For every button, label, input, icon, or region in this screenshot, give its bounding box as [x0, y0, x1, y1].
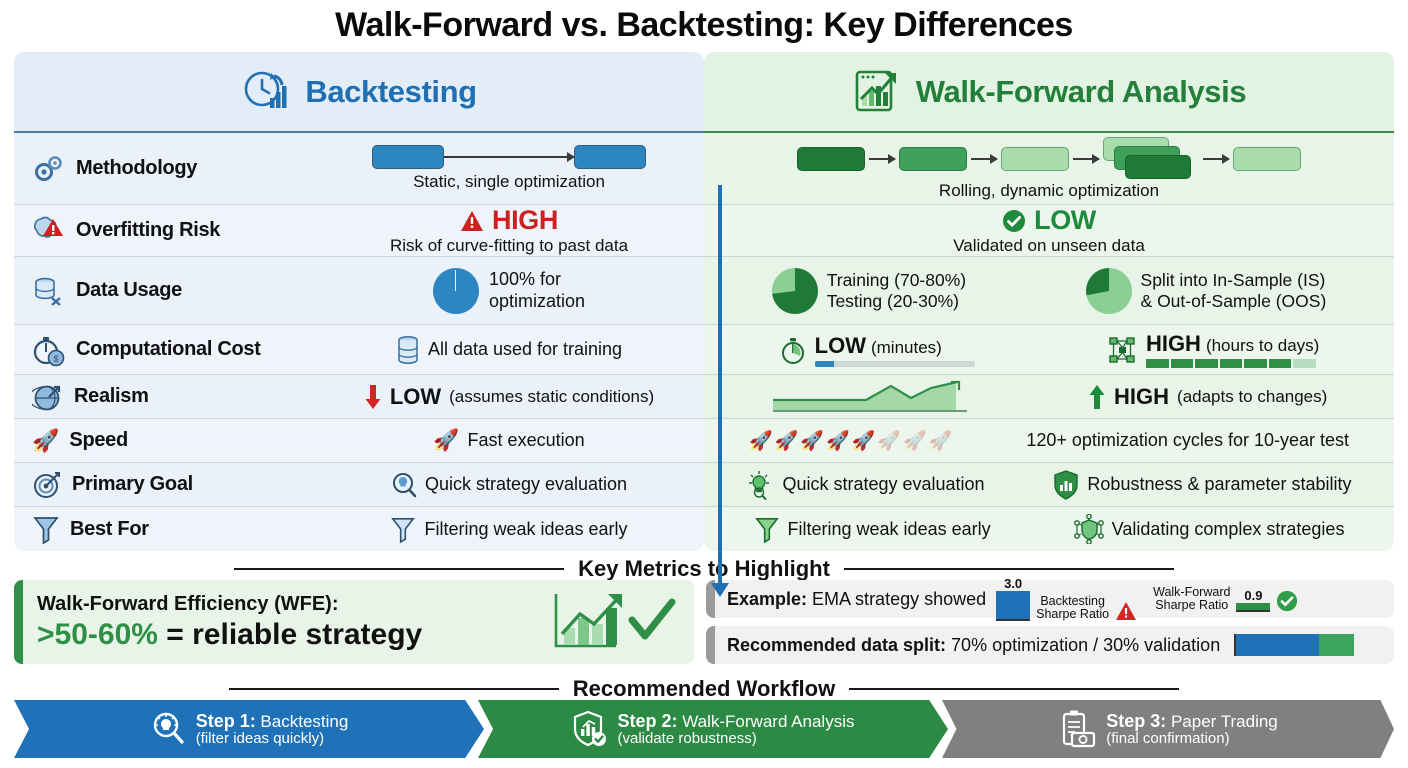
- cell-text: Fast execution: [468, 430, 585, 451]
- table-row: Data Usage 100% for optimization: [14, 257, 704, 325]
- table-row: Rolling, dynamic optimization: [704, 133, 1394, 205]
- stopwatch-icon: [779, 335, 807, 365]
- row-label-text: Overfitting Risk: [76, 219, 220, 242]
- example-rest: EMA strategy showed: [807, 589, 986, 609]
- funnel-icon: [754, 514, 780, 544]
- step-3-label: Step 3: Paper Trading (final confirmatio…: [1106, 711, 1278, 748]
- funnel-icon: [390, 514, 416, 544]
- rule-right: [849, 688, 1179, 690]
- cell-cost-right: LOW (minutes): [704, 331, 1394, 368]
- column-title-walk-forward: Walk-Forward Analysis: [916, 74, 1246, 110]
- cell-text: All data used for training: [428, 339, 622, 360]
- stage-chip: [899, 147, 967, 171]
- rows-backtesting: Methodology Static, single optimization: [14, 133, 704, 551]
- warning-triangle-icon: [460, 210, 484, 232]
- table-row: HIGH (adapts to changes): [704, 375, 1394, 419]
- cell-bestfor-right: Filtering weak ideas early: [704, 514, 1394, 544]
- rocket-rating-icon: 🚀🚀🚀🚀🚀 🚀🚀🚀: [749, 429, 952, 453]
- cell-cost-left: All data used for training: [314, 335, 704, 365]
- rocket-icon: 🚀: [433, 429, 459, 453]
- shield-chart-icon: [1053, 470, 1079, 500]
- column-backtesting: Backtesting Methodo: [14, 52, 704, 550]
- key-metrics-area: Walk-Forward Efficiency (WFE): >50-60% =…: [14, 580, 1394, 664]
- rule-left: [234, 568, 564, 570]
- page-title: Walk-Forward vs. Backtesting: Key Differ…: [0, 0, 1408, 45]
- table-row: Training (70-80%) Testing (20-30%) Split…: [704, 257, 1394, 325]
- database-icon: [396, 335, 420, 365]
- cell-text: Filtering weak ideas early: [788, 519, 991, 540]
- bar-backtesting: [996, 591, 1030, 621]
- cell-text: 120+ optimization cycles for 10-year tes…: [1026, 430, 1349, 451]
- section-title: Key Metrics to Highlight: [578, 556, 830, 582]
- cost-bar-high: [1146, 359, 1316, 368]
- flow-arrow-icon: [1203, 158, 1229, 160]
- sharpe-chart-walkforward: Walk-Forward Sharpe Ratio 0.9: [1153, 586, 1298, 612]
- verdict-note: (hours to days): [1206, 336, 1319, 356]
- growth-chart-window-icon: [852, 66, 904, 118]
- column-divider-arrow: [718, 185, 722, 585]
- training-testing-pie-icon: [772, 268, 818, 314]
- cell-overfitting-left: HIGH Risk of curve-fitting to past data: [314, 205, 704, 256]
- rows-walk-forward: Rolling, dynamic optimization LOW: [704, 133, 1394, 551]
- cell-overfitting-right: LOW Validated on unseen data: [704, 205, 1394, 256]
- globe-arrow-icon: [32, 381, 64, 413]
- bar-label: Backtesting Sharpe Ratio: [1036, 595, 1109, 621]
- row-label-data-usage: Data Usage: [14, 274, 314, 308]
- wfe-card: Walk-Forward Efficiency (WFE): >50-60% =…: [14, 580, 694, 664]
- check-circle-icon: [1276, 590, 1298, 612]
- wfe-value-line: >50-60% = reliable strategy: [37, 618, 422, 652]
- step-1-label: Step 1: Backtesting (filter ideas quickl…: [196, 711, 349, 748]
- table-row: Primary Goal Quick strategy ev: [14, 463, 704, 507]
- table-row: 🚀 Speed 🚀 Fast execution: [14, 419, 704, 463]
- target-icon: [32, 470, 62, 500]
- wfe-title: Walk-Forward Efficiency (WFE):: [37, 593, 422, 616]
- wfe-rest: = reliable strategy: [158, 618, 422, 651]
- cell-speed-left: 🚀 Fast execution: [314, 429, 704, 453]
- clock-bar-chart-icon: [241, 66, 293, 118]
- flow-arrow-icon: [444, 156, 574, 158]
- flow-arrow-icon: [971, 158, 997, 160]
- cost-bar-low: [815, 361, 975, 367]
- stage-chip: [372, 145, 444, 169]
- section-header-workflow: Recommended Workflow: [0, 676, 1408, 702]
- clipboard-money-icon: [1058, 709, 1096, 749]
- verdict-text: HIGH: [1114, 384, 1169, 410]
- full-blue-pie-icon: [433, 268, 479, 314]
- workflow-step-3[interactable]: Step 3: Paper Trading (final confirmatio…: [942, 700, 1394, 758]
- up-arrow-icon: [1088, 384, 1106, 410]
- cell-caption: Risk of curve-fitting to past data: [390, 236, 628, 256]
- lightbulb-magnifier-icon: [746, 470, 774, 500]
- bar-value: 0.9: [1244, 589, 1262, 602]
- table-row: 🚀🚀🚀🚀🚀 🚀🚀🚀 120+ optimization cycles for 1…: [704, 419, 1394, 463]
- cell-goal-left: Quick strategy evaluation: [314, 471, 704, 499]
- cell-caption: Static, single optimization: [413, 172, 605, 192]
- growth-check-icon: [550, 590, 680, 654]
- workflow-step-2[interactable]: Step 2: Walk-Forward Analysis (validate …: [478, 700, 948, 758]
- verdict-text: HIGH: [1146, 331, 1201, 357]
- right-metric-cards: Example: EMA strategy showed 3.0 Backtes…: [706, 580, 1394, 664]
- cell-text-line1: Split into In-Sample (IS): [1141, 270, 1327, 291]
- shield-check-chart-icon: [572, 710, 608, 748]
- rule-right: [844, 568, 1174, 570]
- cell-text: Robustness & parameter stability: [1087, 474, 1351, 495]
- row-label-overfitting-risk: Overfitting Risk: [14, 215, 314, 247]
- row-label-methodology: Methodology: [14, 152, 314, 186]
- database-shuffle-icon: [32, 274, 66, 308]
- magnifier-bulb-icon: [150, 710, 186, 748]
- split-text: Recommended data split: 70% optimization…: [727, 635, 1220, 656]
- section-header-key-metrics: Key Metrics to Highlight: [0, 556, 1408, 582]
- workflow-step-1[interactable]: Step 1: Backtesting (filter ideas quickl…: [14, 700, 484, 758]
- cell-text-line1: Training (70-80%): [827, 270, 966, 291]
- cell-caption: Rolling, dynamic optimization: [939, 181, 1159, 201]
- column-header-walk-forward: Walk-Forward Analysis: [704, 52, 1394, 133]
- row-label-text: Methodology: [76, 157, 197, 180]
- cell-text-line2: Testing (20-30%): [827, 291, 966, 312]
- column-title-backtesting: Backtesting: [305, 74, 476, 110]
- molecule-shield-icon: [1074, 514, 1104, 544]
- gears-icon: [32, 152, 66, 186]
- wfe-highlight: >50-60%: [37, 618, 158, 651]
- stage-chip: [1001, 147, 1069, 171]
- verdict-text: HIGH: [492, 205, 558, 236]
- split-bar: [1234, 634, 1354, 656]
- cell-data-usage-left: 100% for optimization: [314, 268, 704, 314]
- row-label-text: Best For: [70, 518, 149, 541]
- network-nodes-icon: [1108, 335, 1138, 365]
- table-row: Quick strategy evaluation Robustness & p…: [704, 463, 1394, 507]
- split-prefix: Recommended data split:: [727, 635, 946, 655]
- magnifier-bulb-icon: [391, 471, 417, 499]
- table-row: Best For Filtering weak ideas early: [14, 507, 704, 551]
- is-oos-pie-icon: [1086, 268, 1132, 314]
- bar-walkforward: [1236, 603, 1270, 612]
- split-bar-optimization: [1236, 634, 1319, 656]
- cell-methodology-left: Static, single optimization: [314, 145, 704, 192]
- svg-text:$: $: [53, 354, 58, 364]
- cell-text: Filtering weak ideas early: [424, 519, 627, 540]
- example-text: Example: EMA strategy showed: [727, 589, 986, 610]
- flow-arrow-icon: [869, 158, 895, 160]
- section-title: Recommended Workflow: [573, 676, 835, 702]
- sharpe-chart-backtesting: 3.0 Backtesting Sharpe Ratio: [996, 577, 1137, 621]
- adaptive-sparkline-icon: [771, 380, 971, 414]
- rule-left: [229, 688, 559, 690]
- cell-text: Quick strategy evaluation: [782, 474, 984, 495]
- verdict-text: LOW: [815, 333, 866, 359]
- cell-methodology-right: Rolling, dynamic optimization: [704, 137, 1394, 201]
- table-row: LOW Validated on unseen data: [704, 205, 1394, 257]
- stage-chip: [574, 145, 646, 169]
- table-row: Realism LOW (assumes static conditions): [14, 375, 704, 419]
- stage-chip: [797, 147, 865, 171]
- workflow-steps: Step 1: Backtesting (filter ideas quickl…: [14, 700, 1394, 758]
- cell-text: Quick strategy evaluation: [425, 474, 627, 495]
- verdict-note: (adapts to changes): [1177, 387, 1327, 407]
- column-header-backtesting: Backtesting: [14, 52, 704, 133]
- row-label-text: Primary Goal: [72, 473, 193, 496]
- cell-realism-left: LOW (assumes static conditions): [314, 384, 704, 410]
- row-label-best-for: Best For: [14, 514, 314, 544]
- row-label-text: Speed: [69, 429, 128, 452]
- row-label-text: Computational Cost: [76, 338, 261, 361]
- step-2-label: Step 2: Walk-Forward Analysis (validate …: [618, 711, 855, 748]
- row-label-realism: Realism: [14, 381, 314, 413]
- example-prefix: Example:: [727, 589, 807, 609]
- row-label-speed: 🚀 Speed: [14, 428, 314, 454]
- data-split-card: Recommended data split: 70% optimization…: [706, 626, 1394, 664]
- row-label-computational-cost: $ Computational Cost: [14, 333, 314, 367]
- example-card: Example: EMA strategy showed 3.0 Backtes…: [706, 580, 1394, 618]
- funnel-icon: [32, 514, 60, 544]
- cell-caption: Validated on unseen data: [953, 236, 1145, 256]
- rocket-icon: 🚀: [32, 428, 59, 454]
- cell-realism-right: HIGH (adapts to changes): [704, 380, 1394, 414]
- row-label-primary-goal: Primary Goal: [14, 470, 314, 500]
- stage-chip: [1233, 147, 1301, 171]
- table-row: Filtering weak ideas early: [704, 507, 1394, 551]
- cell-text-line2: & Out-of-Sample (OOS): [1141, 291, 1327, 312]
- stopwatch-cost-icon: $: [32, 333, 66, 367]
- brain-warning-icon: [32, 215, 66, 247]
- column-walk-forward: Walk-Forward Analysis: [704, 52, 1394, 550]
- table-row: Overfitting Risk HIGH Risk of curve-fitt…: [14, 205, 704, 257]
- table-row: Methodology Static, single optimization: [14, 133, 704, 205]
- row-label-text: Realism: [74, 385, 149, 408]
- table-row: LOW (minutes): [704, 325, 1394, 375]
- bar-label: Walk-Forward Sharpe Ratio: [1153, 586, 1230, 612]
- cell-bestfor-left: Filtering weak ideas early: [314, 514, 704, 544]
- cell-text: Validating complex strategies: [1112, 519, 1345, 540]
- flow-arrow-icon: [1073, 158, 1099, 160]
- split-bar-validation: [1319, 634, 1354, 656]
- bar-value: 3.0: [1004, 577, 1022, 590]
- check-circle-icon: [1002, 209, 1026, 233]
- comparison-table: Backtesting Methodo: [14, 52, 1394, 550]
- cell-text-line1: 100% for: [489, 269, 585, 290]
- verdict-text: LOW: [390, 384, 441, 410]
- split-rest: 70% optimization / 30% validation: [946, 635, 1220, 655]
- warning-triangle-icon: [1115, 601, 1137, 621]
- infographic-root: Walk-Forward vs. Backtesting: Key Differ…: [0, 0, 1408, 768]
- row-label-text: Data Usage: [76, 279, 182, 302]
- cell-data-usage-right: Training (70-80%) Testing (20-30%) Split…: [704, 268, 1394, 314]
- cell-goal-right: Quick strategy evaluation Robustness & p…: [704, 470, 1394, 500]
- stacked-stage-chips: [1103, 137, 1199, 181]
- cell-text-line2: optimization: [489, 291, 585, 312]
- table-row: $ Computational Cost: [14, 325, 704, 375]
- verdict-note: (minutes): [871, 338, 942, 358]
- verdict-note: (assumes static conditions): [449, 387, 654, 407]
- verdict-text: LOW: [1034, 205, 1096, 236]
- cell-speed-right: 🚀🚀🚀🚀🚀 🚀🚀🚀 120+ optimization cycles for 1…: [704, 429, 1394, 453]
- down-arrow-icon: [364, 384, 382, 410]
